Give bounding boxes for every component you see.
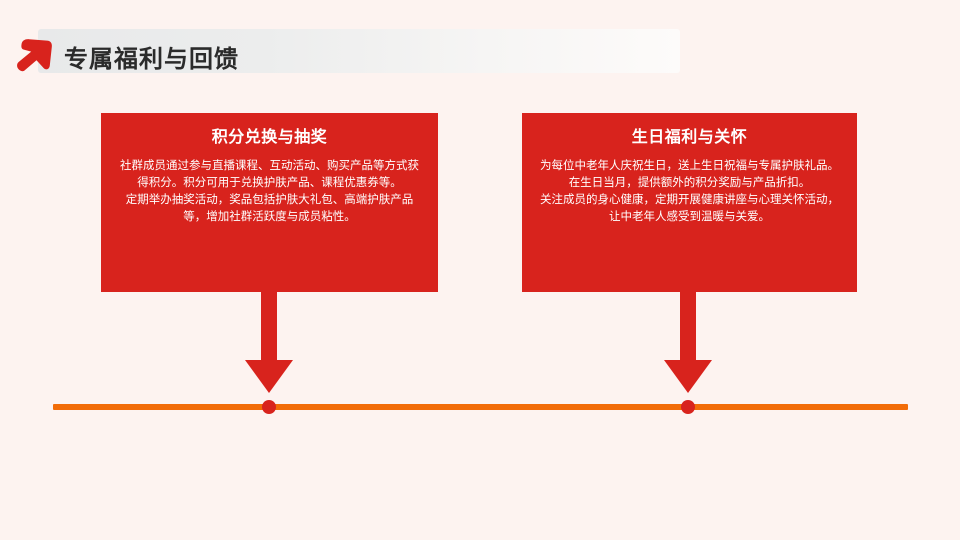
card-paragraph: 关注成员的身心健康，定期开展健康讲座与心理关怀活动，让中老年人感受到温暖与关爱。 (532, 192, 847, 226)
timeline-axis (53, 404, 908, 410)
connector-arrow-down-icon (245, 292, 293, 393)
arrow-head (245, 360, 293, 393)
card-paragraph: 为每位中老年人庆祝生日，送上生日祝福与专属护肤礼品。在生日当月，提供额外的积分奖… (532, 158, 847, 192)
arrow-head (664, 360, 712, 393)
card-title: 生日福利与关怀 (532, 127, 847, 149)
arrow-up-right-icon (13, 32, 55, 72)
card-paragraph: 社群成员通过参与直播课程、互动活动、购买产品等方式获得积分。积分可用于兑换护肤产… (111, 158, 428, 192)
slide-canvas: 专属福利与回馈 积分兑换与抽奖 社群成员通过参与直播课程、互动活动、购买产品等方… (0, 0, 960, 540)
arrow-shaft (261, 292, 277, 360)
arrow-shaft (680, 292, 696, 360)
benefit-card-points: 积分兑换与抽奖 社群成员通过参与直播课程、互动活动、购买产品等方式获得积分。积分… (101, 113, 438, 292)
timeline-marker (681, 400, 695, 414)
card-paragraph: 定期举办抽奖活动，奖品包括护肤大礼包、高端护肤产品等，增加社群活跃度与成员粘性。 (111, 192, 428, 226)
timeline-marker (262, 400, 276, 414)
card-title: 积分兑换与抽奖 (111, 127, 428, 149)
benefit-card-birthday: 生日福利与关怀 为每位中老年人庆祝生日，送上生日祝福与专属护肤礼品。在生日当月，… (522, 113, 857, 292)
page-title: 专属福利与回馈 (64, 39, 239, 74)
connector-arrow-down-icon (664, 292, 712, 393)
